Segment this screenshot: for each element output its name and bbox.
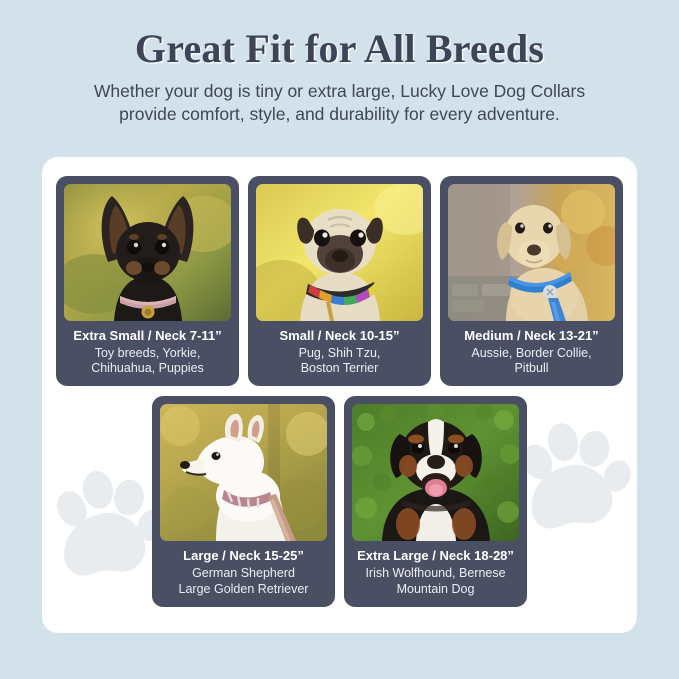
subtitle-line-1: Whether your dog is tiny or extra large,…	[40, 80, 640, 103]
photo-chihuahua-black-tan	[64, 184, 231, 321]
header: Great Fit for All Breeds Whether your do…	[0, 0, 679, 127]
size-card-description: Toy breeds, Yorkie, Chihuahua, Puppies	[91, 346, 204, 377]
size-card-description: German Shepherd Large Golden Retriever	[179, 566, 309, 597]
photo-bernese-mountain-dog	[352, 404, 519, 541]
size-card-desc-line-1: Toy breeds, Yorkie,	[91, 346, 204, 361]
size-card-desc-line-2: Mountain Dog	[365, 582, 505, 597]
page-subtitle: Whether your dog is tiny or extra large,…	[40, 80, 640, 126]
size-card-title: Medium / Neck 13-21”	[464, 329, 598, 344]
size-card-desc-line-1: Pug, Shih Tzu,	[299, 346, 381, 361]
photo-pug	[256, 184, 423, 321]
size-card-desc-line-2: Large Golden Retriever	[179, 582, 309, 597]
size-card-desc-line-2: Boston Terrier	[299, 361, 381, 376]
size-card-desc-line-2: Chihuahua, Puppies	[91, 361, 204, 376]
size-card-desc-line-1: Aussie, Border Collie,	[471, 346, 591, 361]
size-card-title: Large / Neck 15-25”	[183, 549, 304, 564]
photo-yellow-labrador	[448, 184, 615, 321]
size-card-title: Extra Large / Neck 18-28”	[357, 549, 514, 564]
page-title: Great Fit for All Breeds	[0, 28, 679, 70]
infographic-page: Great Fit for All Breeds Whether your do…	[0, 0, 679, 679]
size-card-row-bottom: Large / Neck 15-25” German Shepherd Larg…	[42, 396, 637, 606]
size-card-row-top: Extra Small / Neck 7-11” Toy breeds, Yor…	[42, 176, 637, 386]
size-card-extra-large[interactable]: Extra Large / Neck 18-28” Irish Wolfhoun…	[344, 396, 527, 606]
size-card-description: Pug, Shih Tzu, Boston Terrier	[299, 346, 381, 377]
size-card-medium[interactable]: Medium / Neck 13-21” Aussie, Border Coll…	[440, 176, 623, 386]
size-card-large[interactable]: Large / Neck 15-25” German Shepherd Larg…	[152, 396, 335, 606]
photo-white-german-shepherd	[160, 404, 327, 541]
size-card-grid: Extra Small / Neck 7-11” Toy breeds, Yor…	[42, 157, 637, 607]
size-card-title: Small / Neck 10-15”	[280, 329, 400, 344]
size-card-description: Aussie, Border Collie, Pitbull	[471, 346, 591, 377]
size-card-desc-line-2: Pitbull	[471, 361, 591, 376]
size-chart-panel: Extra Small / Neck 7-11” Toy breeds, Yor…	[42, 157, 637, 633]
size-card-small[interactable]: Small / Neck 10-15” Pug, Shih Tzu, Bosto…	[248, 176, 431, 386]
size-card-extra-small[interactable]: Extra Small / Neck 7-11” Toy breeds, Yor…	[56, 176, 239, 386]
size-card-desc-line-1: German Shepherd	[179, 566, 309, 581]
size-card-title: Extra Small / Neck 7-11”	[73, 329, 221, 344]
size-card-desc-line-1: Irish Wolfhound, Bernese	[365, 566, 505, 581]
size-card-description: Irish Wolfhound, Bernese Mountain Dog	[365, 566, 505, 597]
subtitle-line-2: provide comfort, style, and durability f…	[40, 103, 640, 126]
